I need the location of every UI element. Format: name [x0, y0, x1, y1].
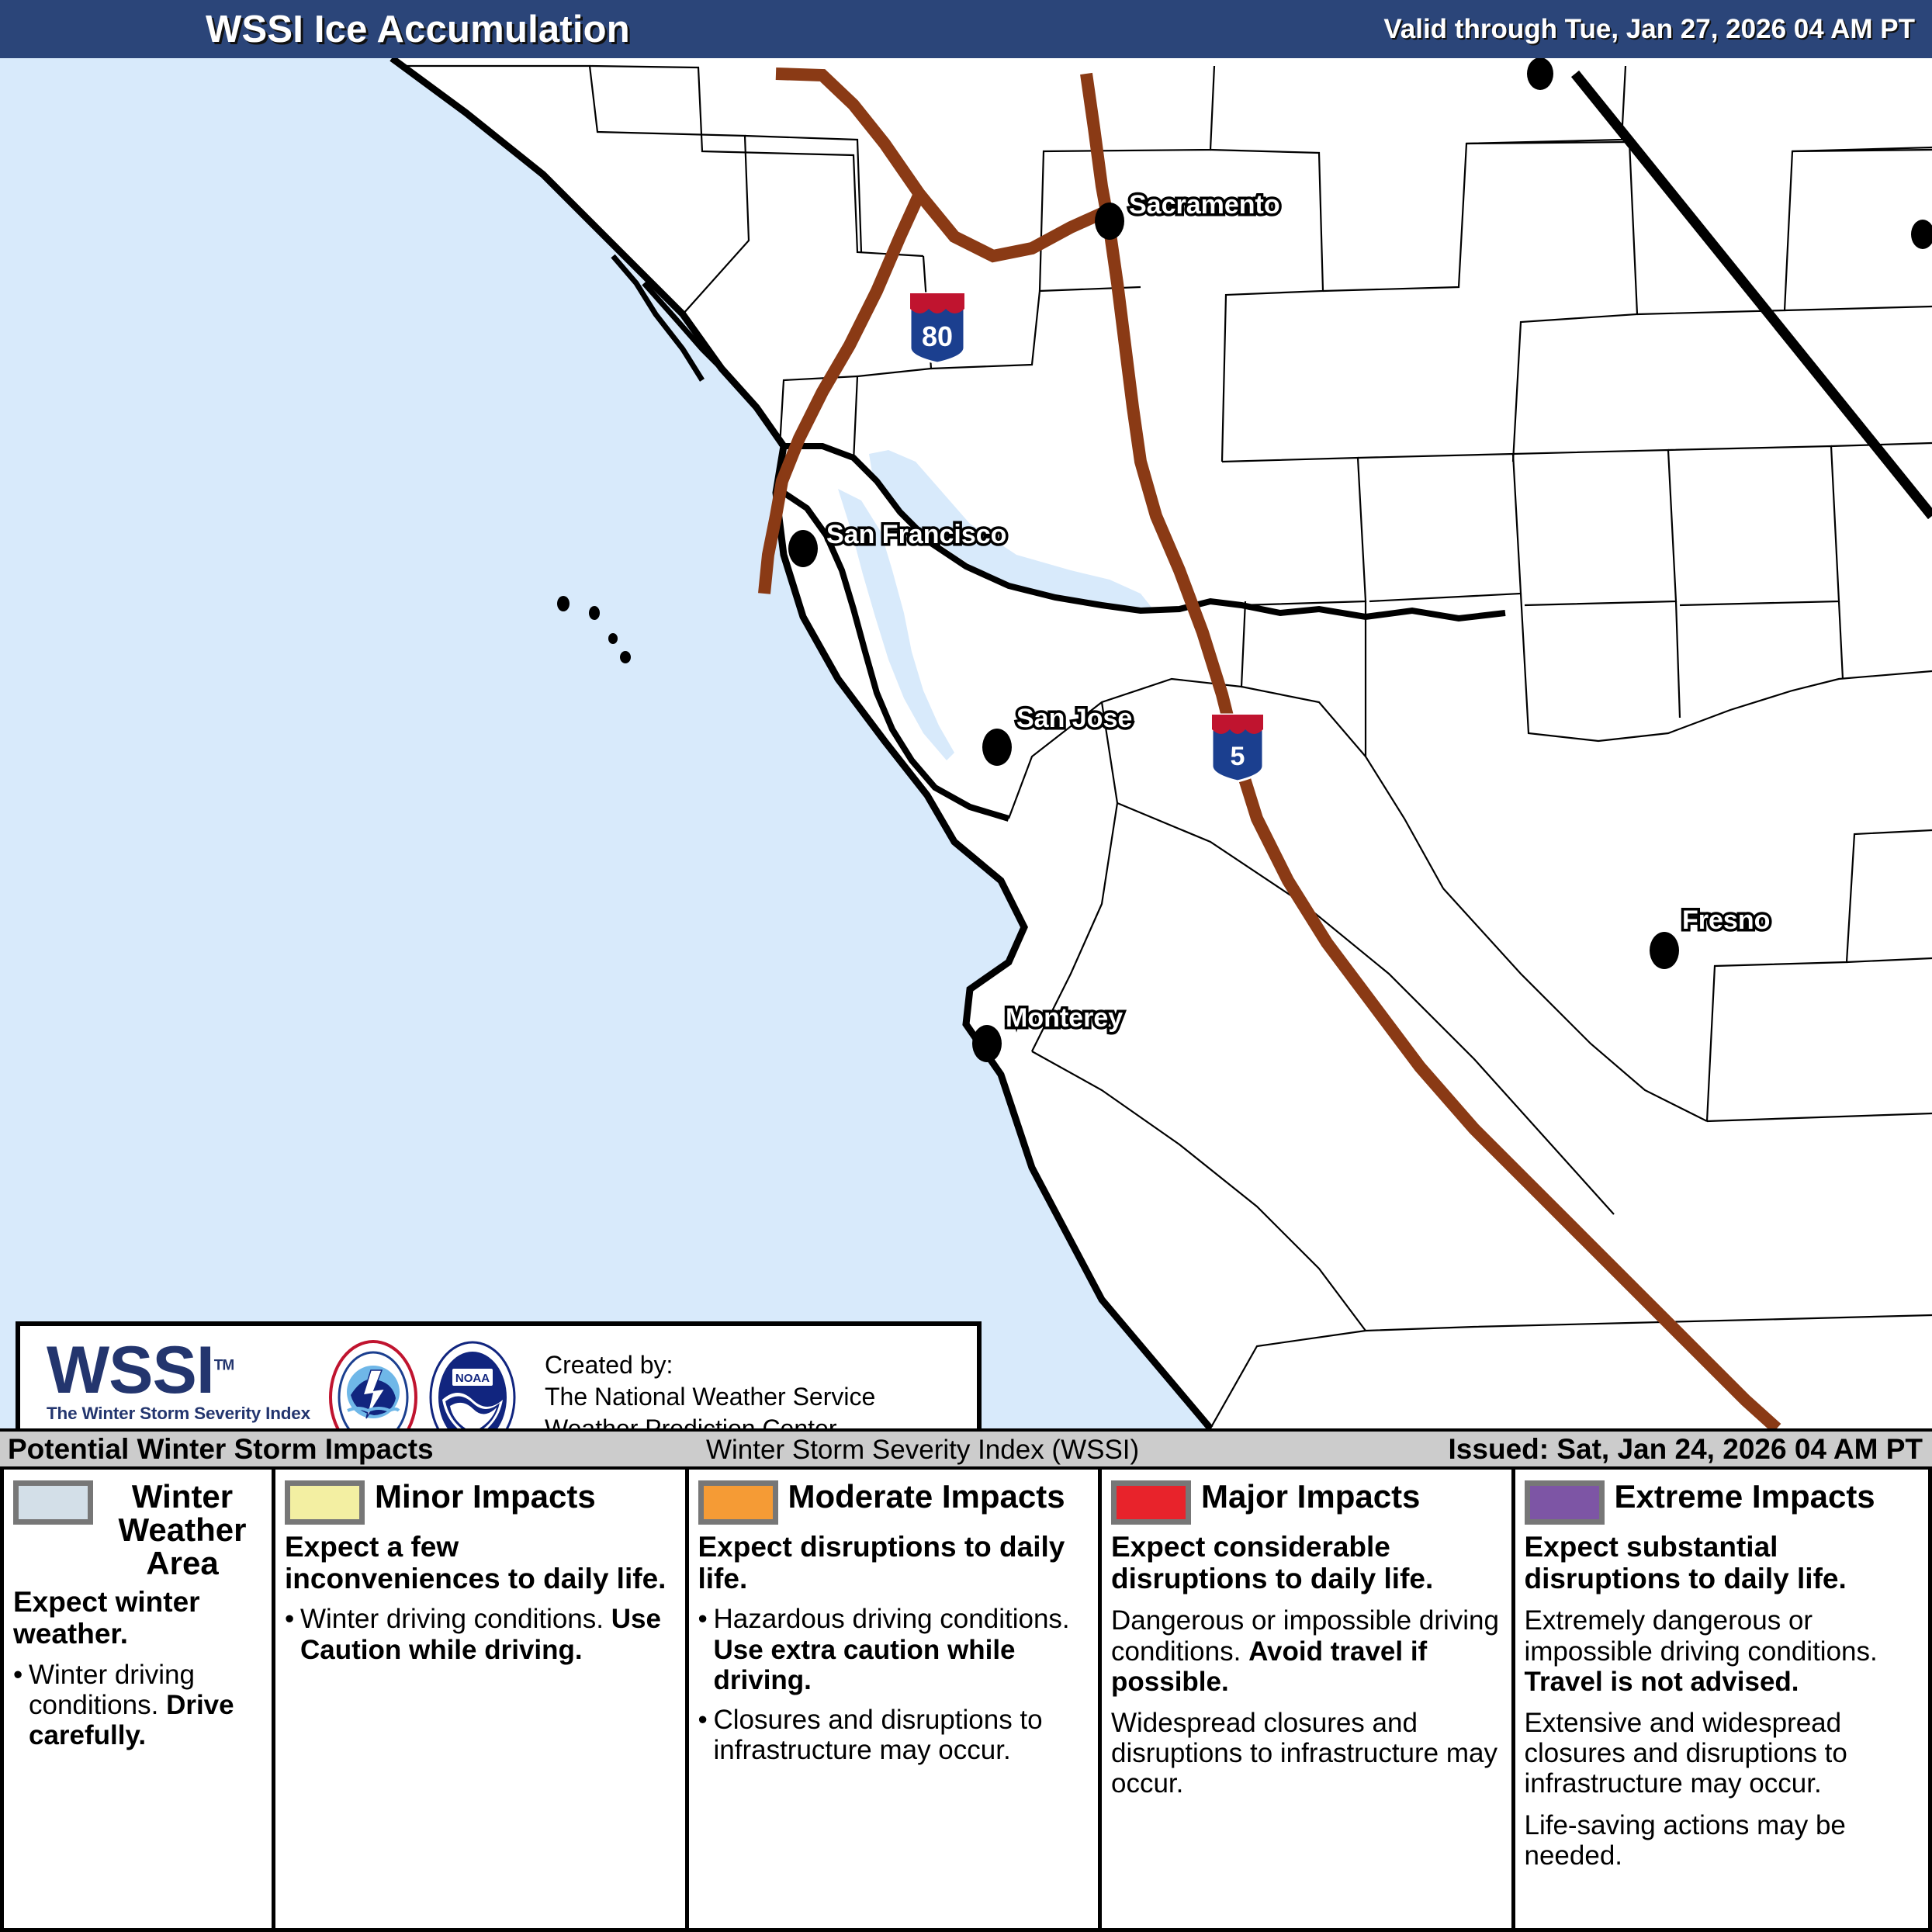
swatch-major-impacts	[1111, 1480, 1191, 1525]
island-dot	[620, 651, 631, 663]
nws-seal-icon: ★ ★ ★	[327, 1339, 419, 1429]
map-canvas[interactable]: 80 5 Sacramento San Francisco San Jose F…	[0, 58, 1932, 1428]
legend-bullet: • Hazardous driving conditions. Use extr…	[698, 1604, 1091, 1695]
agency-seals: ★ ★ ★ NOAA	[327, 1339, 518, 1429]
created-by-label: Created by:	[545, 1349, 875, 1381]
legend-title-minor-impacts: Minor Impacts	[375, 1480, 596, 1514]
bullet-dot-icon: •	[698, 1604, 714, 1695]
legend-title-extreme-impacts: Extreme Impacts	[1615, 1480, 1875, 1514]
legend-bullet: Extensive and widespread closures and di…	[1525, 1708, 1920, 1799]
wssi-logo-box: WSSITM The Winter Storm Severity Index	[16, 1321, 982, 1428]
legend-column-major-impacts[interactable]: Major Impacts Expect considerable disrup…	[1098, 1470, 1511, 1928]
shield-i5: 5	[1212, 715, 1263, 781]
bullet-dot-icon: •	[13, 1660, 29, 1751]
legend-column-winter-weather-area[interactable]: Winter Weather Area Expect winter weathe…	[4, 1470, 272, 1928]
legend-bullet: Extremely dangerous or impossible drivin…	[1525, 1605, 1920, 1697]
created-by-block: Created by: The National Weather Service…	[545, 1349, 875, 1428]
status-bar: Potential Winter Storm Impacts Winter St…	[0, 1428, 1932, 1470]
legend-bullet: • Winter driving conditions. Use Caution…	[285, 1604, 677, 1664]
wssi-subtitle-label: Winter Storm Severity Index (WSSI)	[706, 1435, 1139, 1466]
city-label-sacramento: Sacramento	[1129, 190, 1280, 220]
city-label-monterey: Monterey	[1006, 1003, 1123, 1033]
wssi-wordmark: WSSITM The Winter Storm Severity Index	[20, 1340, 323, 1428]
svg-text:5: 5	[1231, 742, 1245, 771]
city-dot-san-jose	[982, 729, 1012, 766]
legend-column-extreme-impacts[interactable]: Extreme Impacts Expect substantial disru…	[1511, 1470, 1928, 1928]
page-title: WSSI Ice Accumulation	[206, 8, 630, 51]
bullet-emphasis: Use extra caution while driving.	[714, 1635, 1016, 1695]
island-dot	[557, 596, 570, 611]
svg-text:NOAA: NOAA	[455, 1372, 490, 1385]
wssi-ice-accumulation-page: WSSI Ice Accumulation Valid through Tue,…	[0, 0, 1932, 1932]
bullet-emphasis: Drive carefully.	[29, 1690, 234, 1750]
impact-legend: Winter Weather Area Expect winter weathe…	[0, 1470, 1932, 1932]
bullet-text: Hazardous driving conditions. Use extra …	[714, 1604, 1091, 1695]
map-graphic: 80 5 Sacramento San Francisco San Jose F…	[0, 58, 1932, 1428]
org-line-1: The National Weather Service	[545, 1381, 875, 1413]
bullet-emphasis: Use Caution while driving.	[300, 1604, 661, 1664]
city-label-san-francisco: San Francisco	[826, 520, 1006, 549]
potential-impacts-label: Potential Winter Storm Impacts	[8, 1433, 434, 1466]
legend-lead-extreme-impacts: Expect substantial disruptions to daily …	[1525, 1532, 1920, 1594]
legend-bullet: Life-saving actions may be needed.	[1525, 1810, 1920, 1871]
header-bar: WSSI Ice Accumulation Valid through Tue,…	[0, 0, 1932, 58]
city-dot-fresno	[1650, 932, 1679, 969]
wssi-tagline: The Winter Storm Severity Index	[47, 1404, 323, 1424]
legend-lead-major-impacts: Expect considerable disruptions to daily…	[1111, 1532, 1504, 1594]
legend-bullet: • Winter driving conditions. Drive caref…	[13, 1660, 264, 1751]
legend-title-major-impacts: Major Impacts	[1201, 1480, 1420, 1514]
bullet-text: Winter driving conditions. Drive careful…	[29, 1660, 264, 1751]
legend-bullet: • Closures and disruptions to infrastruc…	[698, 1705, 1091, 1765]
legend-bullet: Widespread closures and disruptions to i…	[1111, 1708, 1504, 1799]
bullet-dot-icon: •	[285, 1604, 300, 1664]
bullet-text: Winter driving conditions. Use Caution w…	[300, 1604, 677, 1664]
bullet-text: Closures and disruptions to infrastructu…	[714, 1705, 1091, 1765]
legend-bullet: Dangerous or impossible driving conditio…	[1111, 1605, 1504, 1697]
bullet-emphasis: Avoid travel if possible.	[1111, 1636, 1427, 1697]
wssi-tm: TM	[214, 1357, 234, 1373]
noaa-seal-icon: NOAA	[427, 1339, 518, 1429]
legend-lead-minor-impacts: Expect a few inconveniences to daily lif…	[285, 1532, 677, 1594]
city-dot-monterey	[972, 1025, 1002, 1062]
legend-column-moderate-impacts[interactable]: Moderate Impacts Expect disruptions to d…	[685, 1470, 1099, 1928]
org-line-2: Weather Prediction Center	[545, 1413, 875, 1428]
shield-i80: 80	[910, 293, 964, 363]
city-dot-sacramento	[1095, 203, 1124, 240]
legend-column-minor-impacts[interactable]: Minor Impacts Expect a few inconvenience…	[272, 1470, 685, 1928]
city-label-fresno: Fresno	[1682, 905, 1770, 935]
legend-lead-winter-weather-area: Expect winter weather.	[13, 1587, 264, 1650]
svg-text:80: 80	[922, 320, 953, 352]
city-dot-unlabeled	[1527, 58, 1553, 90]
swatch-minor-impacts	[285, 1480, 365, 1525]
legend-title-moderate-impacts: Moderate Impacts	[788, 1480, 1065, 1514]
legend-title-winter-weather-area: Winter Weather Area	[101, 1480, 264, 1580]
legend-lead-moderate-impacts: Expect disruptions to daily life.	[698, 1532, 1091, 1594]
swatch-extreme-impacts	[1525, 1480, 1605, 1525]
issued-label: Issued: Sat, Jan 24, 2026 04 AM PT	[1449, 1433, 1923, 1466]
bullet-dot-icon: •	[698, 1705, 714, 1765]
city-label-san-jose: San Jose	[1016, 704, 1132, 733]
valid-through-label: Valid through Tue, Jan 27, 2026 04 AM PT	[1383, 14, 1915, 45]
island-dot	[608, 633, 618, 644]
island-dot	[589, 606, 600, 620]
bullet-emphasis: Travel is not advised.	[1525, 1667, 1799, 1697]
swatch-moderate-impacts	[698, 1480, 778, 1525]
city-dot-san-francisco	[788, 530, 818, 567]
swatch-winter-weather-area	[13, 1480, 93, 1525]
wssi-letters: WSSI	[47, 1333, 214, 1407]
